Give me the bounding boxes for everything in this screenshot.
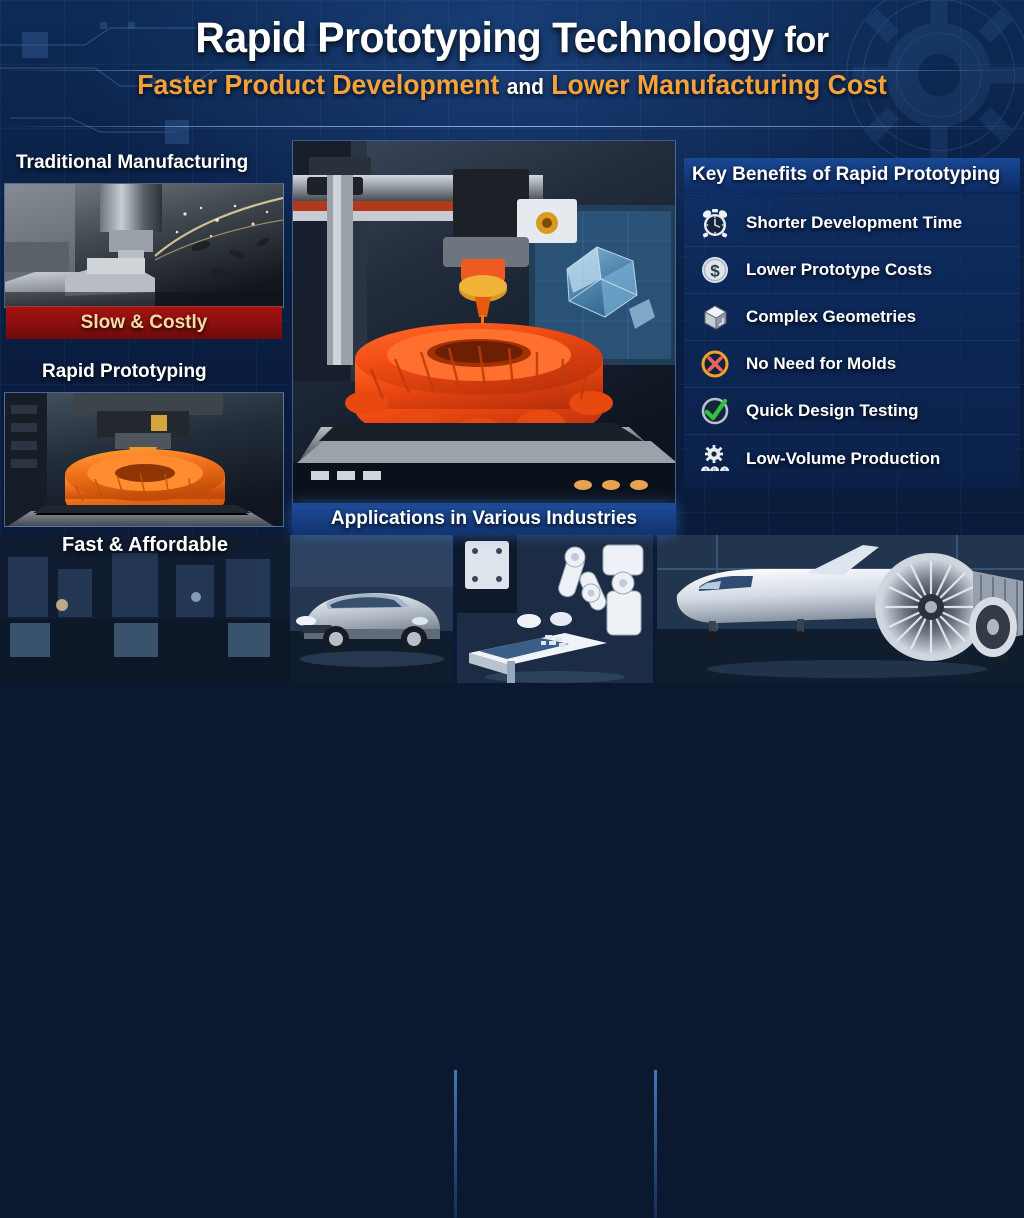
benefit-label: Quick Design Testing xyxy=(746,401,919,421)
gears-production-icon: 3D3 xyxy=(698,442,732,476)
application-aerospace-image xyxy=(657,535,1024,683)
key-benefits-list: Shorter Development Time $ Lower Prototy… xyxy=(684,194,1020,488)
page-title: Rapid Prototyping Technology for xyxy=(26,16,999,61)
benefit-item-low-volume-production[interactable]: 3D3 Low-Volume Production xyxy=(684,435,1020,482)
rapid-prototyping-heading: Rapid Prototyping xyxy=(42,361,207,383)
check-circle-icon xyxy=(698,394,732,428)
subtitle-conjunction: and xyxy=(507,74,544,99)
key-benefits-header: Key Benefits of Rapid Prototyping xyxy=(684,158,1020,192)
key-benefits-title: Key Benefits of Rapid Prototyping xyxy=(692,164,1000,186)
alarm-clock-icon xyxy=(698,206,732,240)
applications-banner-label: Applications in Various Industries xyxy=(331,508,637,530)
subtitle-part1: Faster Product Development xyxy=(137,69,499,100)
fast-affordable-caption: Fast & Affordable xyxy=(0,528,290,562)
header: Rapid Prototyping Technology for Faster … xyxy=(0,0,1024,138)
slow-costly-banner: Slow & Costly xyxy=(6,306,282,339)
svg-text:$: $ xyxy=(710,262,720,281)
benefit-item-quick-design-testing[interactable]: Quick Design Testing xyxy=(684,388,1020,435)
title-thin: for xyxy=(784,19,828,60)
benefit-label: Low-Volume Production xyxy=(746,449,940,469)
title-strong: Rapid Prototyping Technology xyxy=(195,14,773,62)
benefit-label: Lower Prototype Costs xyxy=(746,260,932,280)
x-circle-icon xyxy=(698,347,732,381)
application-automotive-image xyxy=(290,535,453,683)
header-divider-bottom xyxy=(0,126,1024,127)
application-robotics-image xyxy=(457,535,653,683)
benefit-label: Complex Geometries xyxy=(746,307,916,327)
benefit-item-no-need-for-molds[interactable]: No Need for Molds xyxy=(684,341,1020,388)
slow-costly-label: Slow & Costly xyxy=(81,312,208,334)
applications-banner: Applications in Various Industries xyxy=(292,503,676,535)
key-benefits-panel: Key Benefits of Rapid Prototyping xyxy=(684,158,1020,488)
traditional-manufacturing-image xyxy=(4,183,284,308)
svg-text:D: D xyxy=(713,466,716,471)
benefit-item-complex-geometries[interactable]: Complex Geometries xyxy=(684,294,1020,341)
rapid-prototyping-image xyxy=(4,392,284,527)
benefit-label: No Need for Molds xyxy=(746,354,896,374)
traditional-manufacturing-heading: Traditional Manufacturing xyxy=(16,152,248,174)
applications-divider-2 xyxy=(654,1070,657,1218)
hero-3d-printer-image xyxy=(292,140,676,508)
benefit-item-lower-prototype-costs[interactable]: $ Lower Prototype Costs xyxy=(684,247,1020,294)
dollar-coin-icon: $ xyxy=(698,253,732,287)
infographic-root: Rapid Prototyping Technology for Faster … xyxy=(0,0,1024,683)
subtitle-part2: Lower Manufacturing Cost xyxy=(551,69,886,100)
applications-divider-1 xyxy=(454,1070,457,1218)
3d-cube-icon xyxy=(698,300,732,334)
page-subtitle: Faster Product Development and Lower Man… xyxy=(26,70,999,99)
benefit-label: Shorter Development Time xyxy=(746,213,962,233)
benefit-item-shorter-development-time[interactable]: Shorter Development Time xyxy=(684,200,1020,247)
